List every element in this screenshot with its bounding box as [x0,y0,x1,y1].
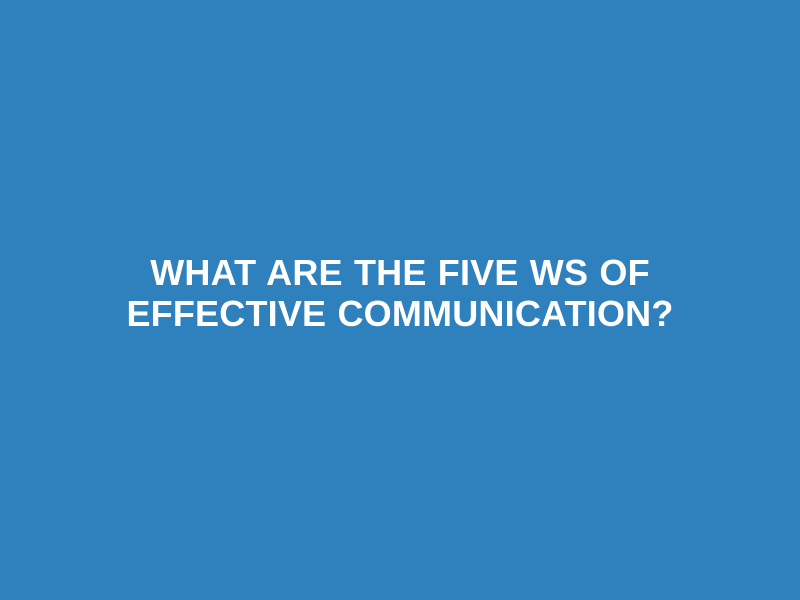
hero-banner: What Are the Five Ws of Effective Commun… [0,0,800,600]
hero-title-block: What Are the Five Ws of Effective Commun… [70,252,730,334]
page-title: What Are the Five Ws of Effective Commun… [70,252,730,334]
